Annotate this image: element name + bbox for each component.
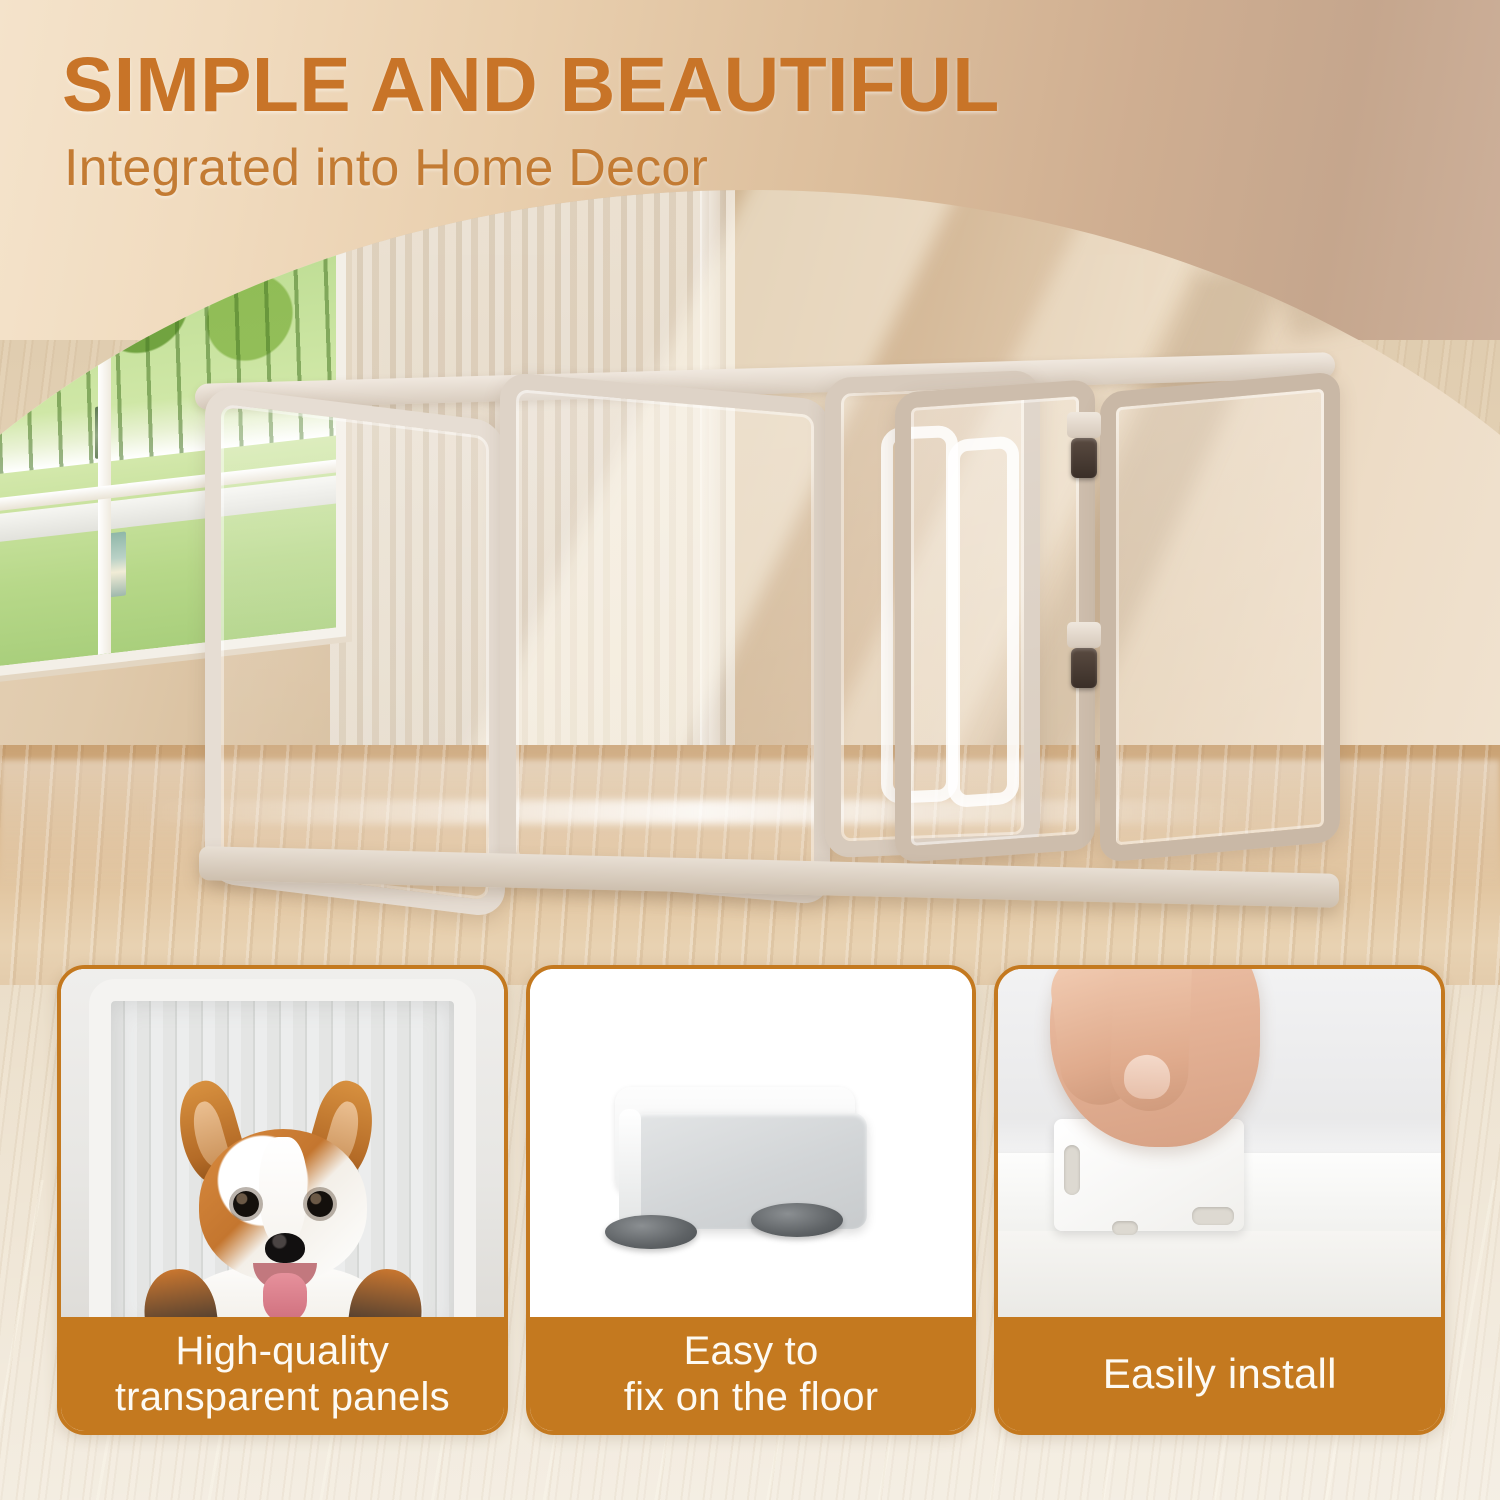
gate-latch-knob-upper bbox=[1071, 438, 1097, 478]
clip-slot bbox=[1112, 1221, 1138, 1235]
playpen-panel-front-middle bbox=[500, 372, 830, 906]
floor-bracket bbox=[601, 1085, 901, 1265]
panel-rail-bottom bbox=[998, 1231, 1441, 1325]
playpen-gate-right bbox=[1100, 371, 1340, 863]
card-caption-easy-install: Easily install bbox=[998, 1317, 1441, 1431]
card-media-hand-clip bbox=[998, 969, 1441, 1325]
dog-eye-right bbox=[307, 1191, 333, 1217]
page-subheadline: Integrated into Home Decor bbox=[64, 138, 708, 198]
feature-card-floor-fix[interactable]: Easy to fix on the floor bbox=[526, 965, 977, 1435]
latch-plate bbox=[1067, 622, 1101, 648]
dog-shoulder-left bbox=[139, 1264, 224, 1325]
card-caption-floor-fix: Easy to fix on the floor bbox=[530, 1317, 973, 1431]
dog-tongue bbox=[263, 1273, 307, 1323]
suction-pad-right bbox=[751, 1203, 843, 1237]
caption-line-2: transparent panels bbox=[115, 1375, 450, 1419]
feature-card-easy-install[interactable]: Easily install bbox=[994, 965, 1445, 1435]
corgi-dog bbox=[137, 1087, 427, 1325]
latch-plate bbox=[1067, 412, 1101, 438]
clip-slot bbox=[1064, 1145, 1080, 1195]
fingernail bbox=[1124, 1054, 1172, 1100]
page-headline: SIMPLE AND BEAUTIFUL bbox=[62, 46, 1000, 125]
gate-latch-knob-lower bbox=[1071, 648, 1097, 688]
clip-slot bbox=[1192, 1207, 1234, 1225]
dog-eye-left bbox=[233, 1191, 259, 1217]
caption-line-1: High-quality bbox=[176, 1329, 390, 1373]
card-media-dog-behind-gate bbox=[61, 969, 504, 1325]
dog-shoulder-right bbox=[343, 1264, 428, 1325]
playpen-inner-frame bbox=[948, 435, 1019, 808]
feature-card-row: High-quality transparent panels Easy bbox=[57, 965, 1445, 1435]
card-caption-transparent-panels: High-quality transparent panels bbox=[61, 1317, 504, 1431]
thumb bbox=[1109, 969, 1193, 1112]
dog-nose bbox=[265, 1233, 305, 1263]
caption-line-1: Easily install bbox=[1103, 1350, 1337, 1398]
bracket-side-lip bbox=[619, 1109, 641, 1227]
playpen-gate-left bbox=[895, 379, 1095, 863]
caption-line-2: fix on the floor bbox=[624, 1375, 878, 1419]
product-marketing-image: SIMPLE AND BEAUTIFUL Integrated into Hom… bbox=[0, 0, 1500, 1500]
caption-line-1: Easy to bbox=[684, 1329, 819, 1373]
pet-playpen bbox=[195, 360, 1335, 900]
feature-card-transparent-panels[interactable]: High-quality transparent panels bbox=[57, 965, 508, 1435]
playpen-panel-front-left bbox=[205, 386, 505, 919]
suction-pad-left bbox=[605, 1215, 697, 1249]
card-media-floor-bracket bbox=[530, 969, 973, 1325]
